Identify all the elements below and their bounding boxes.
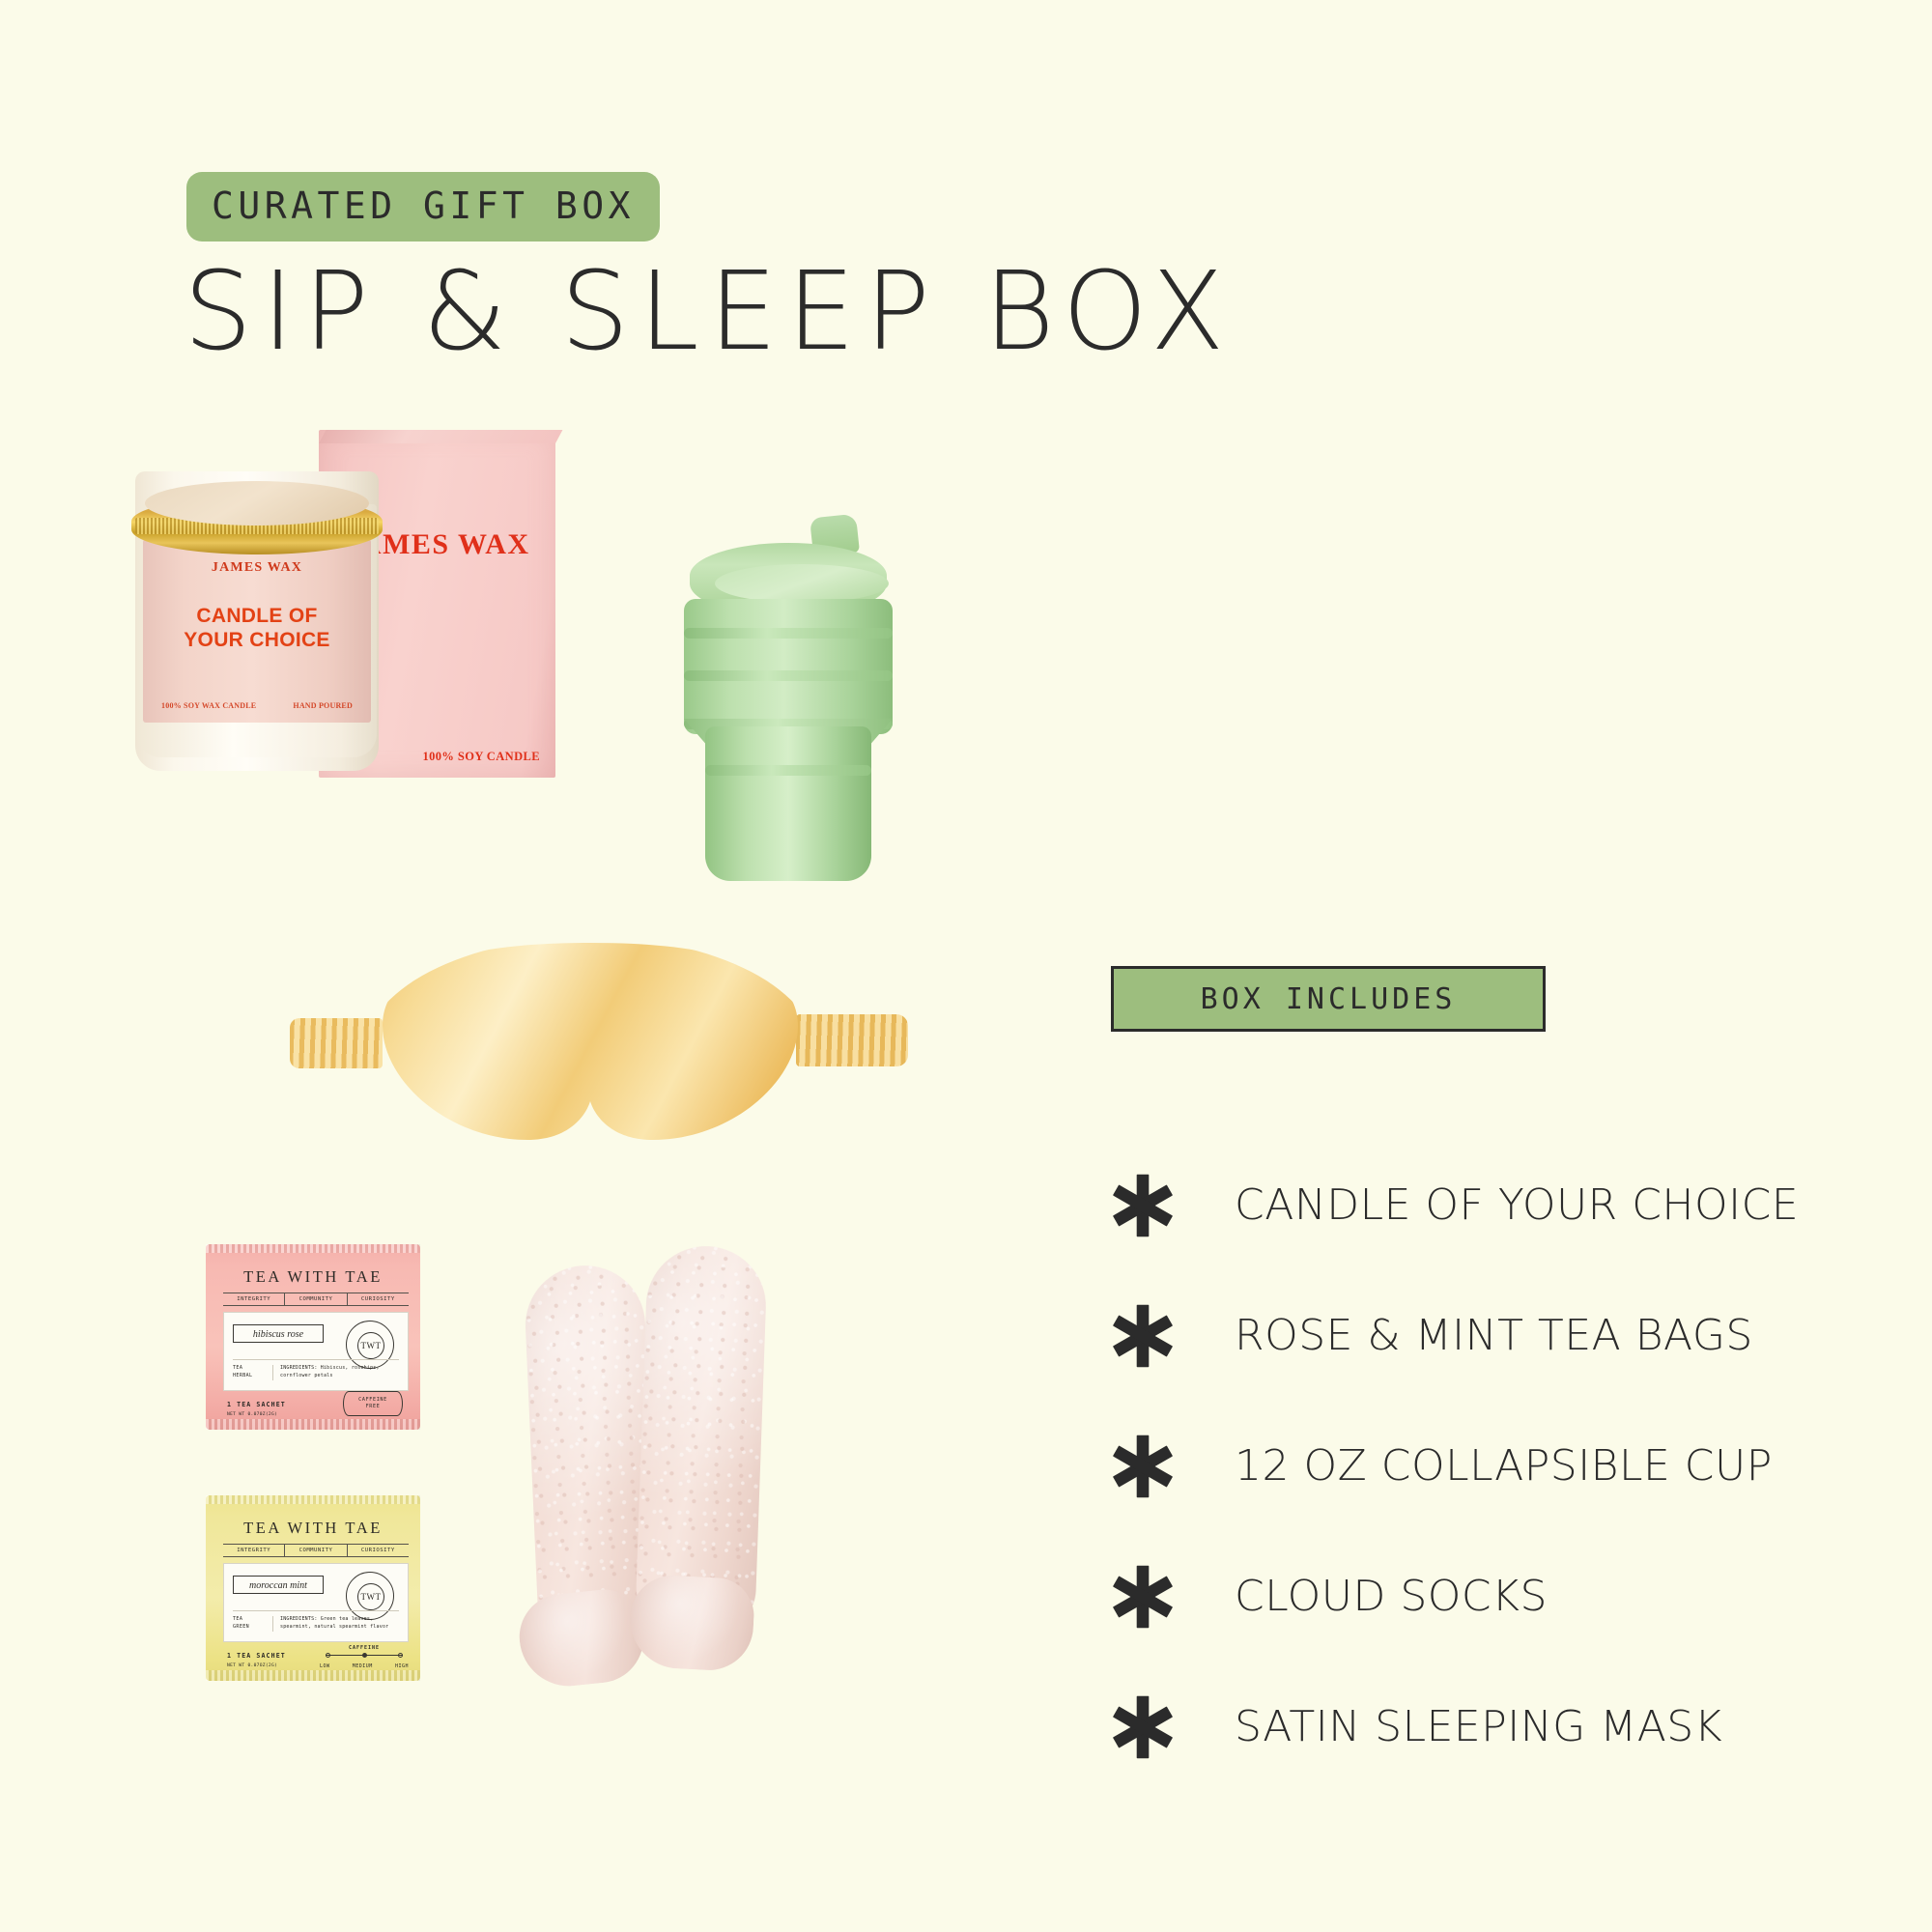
caffeine-dot-medium xyxy=(362,1653,367,1658)
sachet-ingredients: INGREDIENTS: Green tea leaves, spearmint… xyxy=(272,1616,400,1632)
sachet-divider xyxy=(233,1359,399,1360)
box-includes-list: CANDLE OF YOUR CHOICE ROSE & MINT TEA BA… xyxy=(1101,1140,1893,1792)
eyebrow-badge: CURATED GIFT BOX xyxy=(186,172,660,241)
include-item-label: SATIN SLEEPING MASK xyxy=(1235,1702,1722,1751)
asterisk-icon xyxy=(1101,1302,1184,1370)
list-item: CLOUD SOCKS xyxy=(1101,1531,1893,1662)
sachet-flavor-label: hibiscus rose xyxy=(233,1324,324,1343)
sachet-info-card: hibiscus rose TWT TEA HERBAL INGREDIENTS… xyxy=(223,1312,409,1391)
sock-right xyxy=(635,1244,768,1634)
list-item: SATIN SLEEPING MASK xyxy=(1101,1662,1893,1792)
caffeine-free-badge: CAFFEINE FREE xyxy=(343,1391,403,1416)
mask-body xyxy=(363,937,817,1150)
tea-sachet-moroccan-mint: TEA WITH TAE INTEGRITY COMMUNITY CURIOSI… xyxy=(206,1495,420,1681)
sachet-seal-monogram: TWT xyxy=(357,1583,384,1610)
jar-headline: CANDLE OF YOUR CHOICE xyxy=(143,605,371,653)
sachet-count: 1 TEA SACHET xyxy=(227,1652,286,1660)
cup-ring-1 xyxy=(684,628,893,639)
cup-lid-top-face xyxy=(715,564,889,603)
sachet-type-line1: TEA xyxy=(233,1365,268,1373)
sachet-brand: TEA WITH TAE xyxy=(206,1519,420,1538)
sachet-values: INTEGRITY COMMUNITY CURIOSITY xyxy=(223,1293,409,1306)
jar-label: JAMES WAX CANDLE OF YOUR CHOICE 100% SOY… xyxy=(143,539,371,723)
gift-box-poster: CURATED GIFT BOX SIP & SLEEP BOX JAMES W… xyxy=(0,0,1932,1932)
sachet-count: 1 TEA SACHET xyxy=(227,1401,286,1408)
sachet-type-line1: TEA xyxy=(233,1616,268,1624)
include-item-label: 12 OZ COLLAPSIBLE CUP xyxy=(1235,1441,1773,1491)
sachet-net-weight: NET WT 0.070Z(2G) xyxy=(227,1412,277,1417)
tea-sachet-hibiscus-rose: TEA WITH TAE INTEGRITY COMMUNITY CURIOSI… xyxy=(206,1244,420,1430)
asterisk-icon xyxy=(1101,1433,1184,1500)
sachet-type: TEA HERBAL xyxy=(233,1365,268,1379)
sachet-value-2: COMMUNITY xyxy=(285,1545,347,1556)
jar-footnote-left: 100% SOY WAX CANDLE xyxy=(161,701,256,710)
cup-ring-2 xyxy=(684,670,893,681)
caffeine-scale-track xyxy=(326,1655,403,1662)
asterisk-icon xyxy=(1101,1693,1184,1761)
include-item-label: ROSE & MINT TEA BAGS xyxy=(1235,1311,1753,1360)
box-top-face xyxy=(319,430,562,443)
sachet-divider xyxy=(233,1610,399,1611)
sachet-seal-icon: TWT xyxy=(346,1572,394,1620)
caffeine-dot-low xyxy=(326,1653,330,1658)
list-item: ROSE & MINT TEA BAGS xyxy=(1101,1270,1893,1401)
jar-gold-lid xyxy=(131,497,383,554)
list-item: CANDLE OF YOUR CHOICE xyxy=(1101,1140,1893,1270)
caffeine-scale-labels: LOW MEDIUM HIGH xyxy=(320,1663,409,1669)
sachet-type-line2: GREEN xyxy=(233,1624,268,1632)
caffeine-dot-high xyxy=(398,1653,403,1658)
caffeine-label-medium: MEDIUM xyxy=(353,1663,373,1669)
sachet-values: INTEGRITY COMMUNITY CURIOSITY xyxy=(223,1544,409,1557)
list-item: 12 OZ COLLAPSIBLE CUP xyxy=(1101,1401,1893,1531)
sachet-value-2: COMMUNITY xyxy=(285,1293,347,1305)
sachet-value-3: CURIOSITY xyxy=(348,1545,409,1556)
jar-headline-line1: CANDLE OF xyxy=(143,605,371,629)
sachet-brand: TEA WITH TAE xyxy=(206,1267,420,1287)
asterisk-icon xyxy=(1101,1563,1184,1631)
caffeine-label-low: LOW xyxy=(320,1663,330,1669)
sachet-flavor-label: moroccan mint xyxy=(233,1576,324,1594)
box-includes-badge: BOX INCLUDES xyxy=(1111,966,1546,1032)
sachet-value-3: CURIOSITY xyxy=(348,1293,409,1305)
sleep-mask-image xyxy=(290,927,908,1169)
mask-strap-right xyxy=(796,1014,908,1066)
caffeine-level-scale: CAFFEINE LOW MEDIUM HIGH xyxy=(320,1645,409,1669)
jar-lid-top-face xyxy=(145,481,369,526)
sock-foot-left xyxy=(515,1586,647,1691)
cup-base-ring-1 xyxy=(705,765,871,776)
sachet-type: TEA GREEN xyxy=(233,1616,268,1631)
candle-jar: JAMES WAX CANDLE OF YOUR CHOICE 100% SOY… xyxy=(135,471,379,771)
candle-product-image: JAMES WAX 100% SOY CANDLE JAMES WAX CAND… xyxy=(135,415,599,850)
include-item-label: CANDLE OF YOUR CHOICE xyxy=(1235,1180,1799,1230)
caffeine-free-line1: CAFFEINE xyxy=(358,1397,387,1405)
sachet-seal-monogram: TWT xyxy=(357,1332,384,1359)
jar-headline-line2: YOUR CHOICE xyxy=(143,629,371,653)
collapsible-cup-image xyxy=(676,512,898,918)
caffeine-free-line2: FREE xyxy=(366,1404,381,1411)
mask-strap-left xyxy=(290,1018,383,1068)
cup-upper-body xyxy=(684,599,893,734)
page-title: SIP & SLEEP BOX xyxy=(184,256,1234,370)
jar-footnote-right: HAND POURED xyxy=(293,701,353,710)
jar-brand-label: JAMES WAX xyxy=(143,560,371,576)
sock-foot-right xyxy=(628,1574,756,1673)
jar-footnotes: 100% SOY WAX CANDLE HAND POURED xyxy=(143,701,371,710)
cloud-socks-image xyxy=(522,1236,831,1710)
sachet-info-card: moroccan mint TWT TEA GREEN INGREDIENTS:… xyxy=(223,1563,409,1642)
caffeine-label-high: HIGH xyxy=(395,1663,409,1669)
cup-base xyxy=(705,726,871,881)
box-caption-label: 100% SOY CANDLE xyxy=(422,750,540,764)
asterisk-icon xyxy=(1101,1172,1184,1239)
sachet-net-weight: NET WT 0.07OZ(2G) xyxy=(227,1663,277,1668)
sachet-seal-icon: TWT xyxy=(346,1321,394,1369)
sachet-value-1: INTEGRITY xyxy=(223,1293,285,1305)
sachet-value-1: INTEGRITY xyxy=(223,1545,285,1556)
caffeine-scale-title: CAFFEINE xyxy=(320,1645,409,1651)
include-item-label: CLOUD SOCKS xyxy=(1235,1572,1548,1621)
sachet-ingredients: INGREDIENTS: Hibiscus, rosehips, cornflo… xyxy=(272,1365,400,1380)
sachet-type-line2: HERBAL xyxy=(233,1373,268,1380)
